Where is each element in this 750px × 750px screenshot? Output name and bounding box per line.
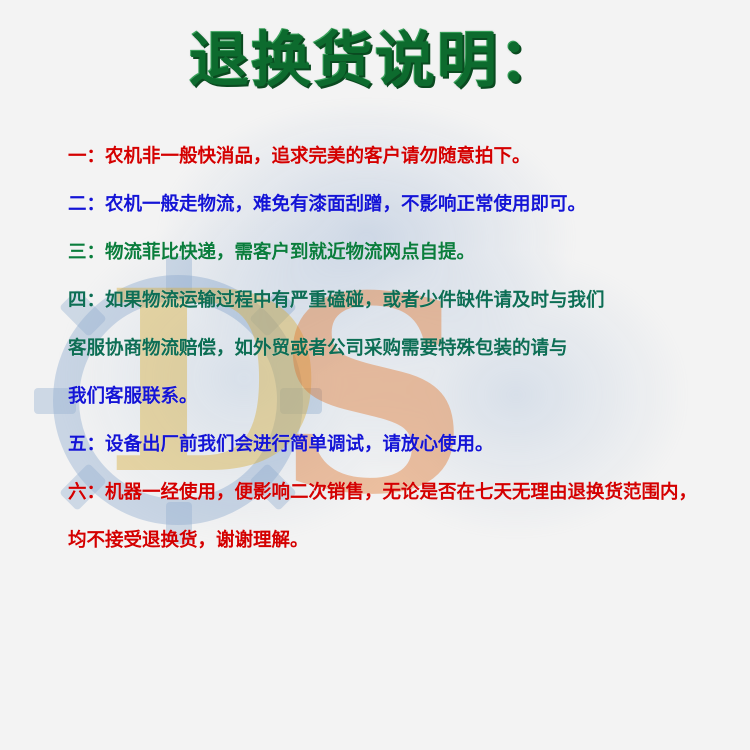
- policy-line-cont: 我们客服联系。: [68, 385, 708, 409]
- policy-line: 五：设备出厂前我们会进行简单调试，请放心使用。: [68, 433, 708, 457]
- policy-line: 三：物流菲比快递，需客户到就近物流网点自提。: [68, 241, 708, 265]
- policy-line: 二：农机一般走物流，难免有漆面刮蹭，不影响正常使用即可。: [68, 193, 708, 217]
- policy-line-cont: 均不接受退换货，谢谢理解。: [68, 529, 708, 553]
- policy-line: 六：机器一经使用，便影响二次销售，无论是否在七天无理由退换货范围内，: [68, 481, 708, 505]
- page-title: 退换货说明：: [189, 30, 561, 93]
- policy-line: 四：如果物流运输过程中有严重磕碰，或者少件缺件请及时与我们: [68, 289, 708, 313]
- page-title-wrap: 退换货说明：: [0, 30, 750, 93]
- return-policy-page: D S 退换货说明： 一：农机非一般快消品，追求完美的客户请勿随意拍下。 二：农…: [0, 0, 750, 750]
- policy-line-cont: 客服协商物流赔偿，如外贸或者公司采购需要特殊包装的请与: [68, 337, 708, 361]
- policy-line: 一：农机非一般快消品，追求完美的客户请勿随意拍下。: [68, 145, 708, 169]
- policy-lines: 一：农机非一般快消品，追求完美的客户请勿随意拍下。 二：农机一般走物流，难免有漆…: [68, 145, 708, 577]
